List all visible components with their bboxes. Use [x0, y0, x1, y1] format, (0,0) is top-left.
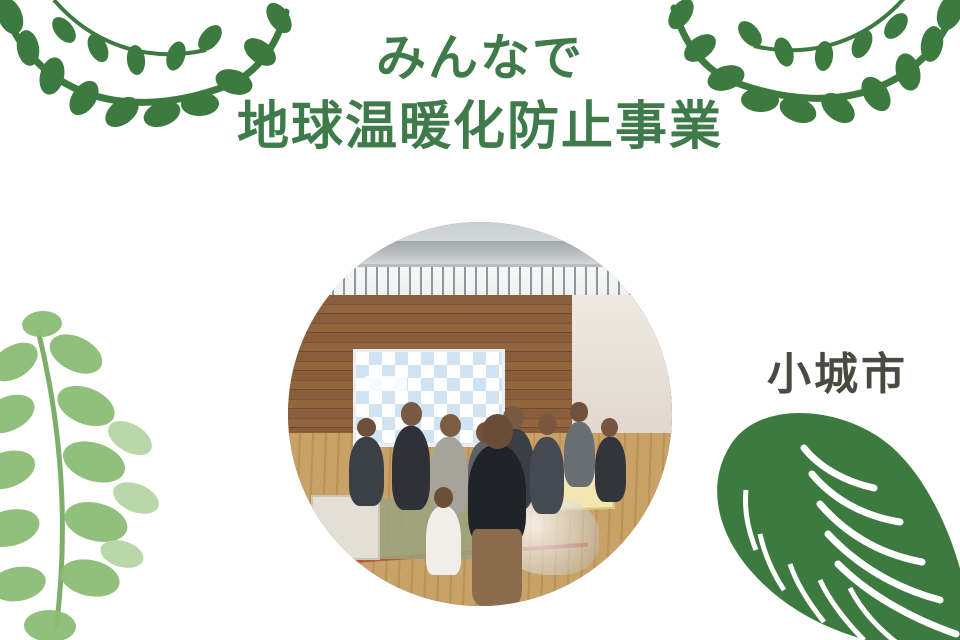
- photo-banner-label: [365, 376, 407, 391]
- city-name-label: 小城市: [767, 338, 908, 402]
- photo-person: [349, 437, 384, 506]
- photo-person-head: [570, 402, 587, 421]
- poster-title: みんなで 地球温暖化防止事業: [0, 30, 960, 161]
- photo-person: [530, 437, 565, 514]
- title-line-1: みんなで: [0, 30, 960, 88]
- eucalyptus-branch-left-icon: [0, 310, 210, 640]
- photo-person-head: [440, 414, 461, 437]
- poster-canvas: みんなで 地球温暖化防止事業 小城市: [0, 0, 960, 640]
- photo-person-head: [401, 402, 422, 425]
- title-line-2: 地球温暖化防止事業: [0, 94, 960, 162]
- photo-person: [564, 422, 595, 487]
- monstera-leaf-bottom-right-icon: [678, 404, 960, 640]
- event-photo-circle: [288, 222, 672, 606]
- event-photo-content: [288, 222, 672, 606]
- photo-person-head: [482, 414, 513, 449]
- photo-person: [392, 426, 430, 510]
- photo-person: [595, 437, 626, 502]
- photo-child-head: [434, 487, 453, 508]
- photo-person-head: [538, 414, 557, 435]
- photo-child: [426, 506, 461, 575]
- photo-person-pants: [472, 529, 522, 606]
